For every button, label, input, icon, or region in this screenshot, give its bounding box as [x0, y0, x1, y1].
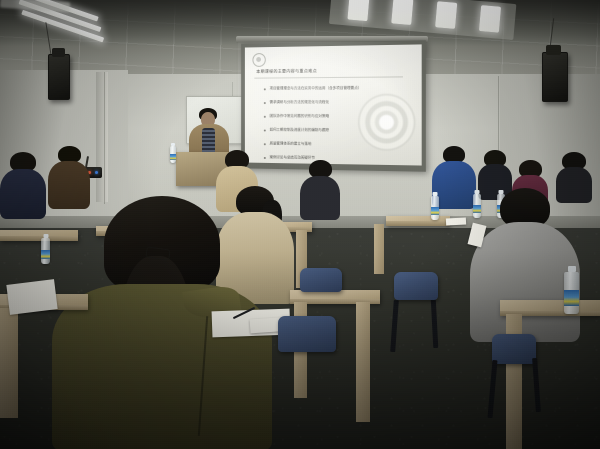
chair [300, 268, 342, 292]
slide-title: 本期课程的主要内容与重点难点 [256, 68, 317, 75]
chair [394, 272, 438, 300]
chair [492, 334, 536, 364]
water-bottle [170, 146, 176, 163]
attendee-center-dark [300, 160, 340, 218]
wall-speaker-left-icon [48, 54, 70, 100]
projection-screen: 本期课程的主要内容与重点难点 项目管理理念与方法在实务中的运用（含多项目管理要点… [241, 40, 426, 172]
classroom-photo: 本期课程的主要内容与重点难点 项目管理理念与方法在实务中的运用（含多项目管理要点… [0, 0, 600, 449]
wall-speaker-right-icon [542, 52, 568, 102]
slide-watermark-graphic-icon [358, 94, 415, 151]
water-bottle [431, 196, 439, 220]
slide-title-rule [254, 76, 403, 78]
paper-sheet [6, 279, 57, 315]
slide-logo-icon [252, 53, 265, 67]
water-bottle [41, 238, 50, 264]
paper-sheet [446, 217, 466, 225]
desk-panel [374, 224, 384, 274]
desk [386, 216, 450, 226]
slide-surface: 本期课程的主要内容与重点难点 项目管理理念与方法在实务中的运用（含多项目管理要点… [245, 44, 422, 165]
wall-seam [104, 72, 105, 204]
attendee-left-navy-jacket [0, 152, 46, 218]
water-bottle [564, 272, 579, 314]
desk-panel [356, 302, 370, 422]
slide-bullet: 项目管理理念与方法在实务中的运用（含多项目管理要点） [270, 86, 397, 92]
left-wall-column [96, 72, 108, 202]
desk-panel [0, 308, 18, 418]
chair [278, 316, 336, 352]
